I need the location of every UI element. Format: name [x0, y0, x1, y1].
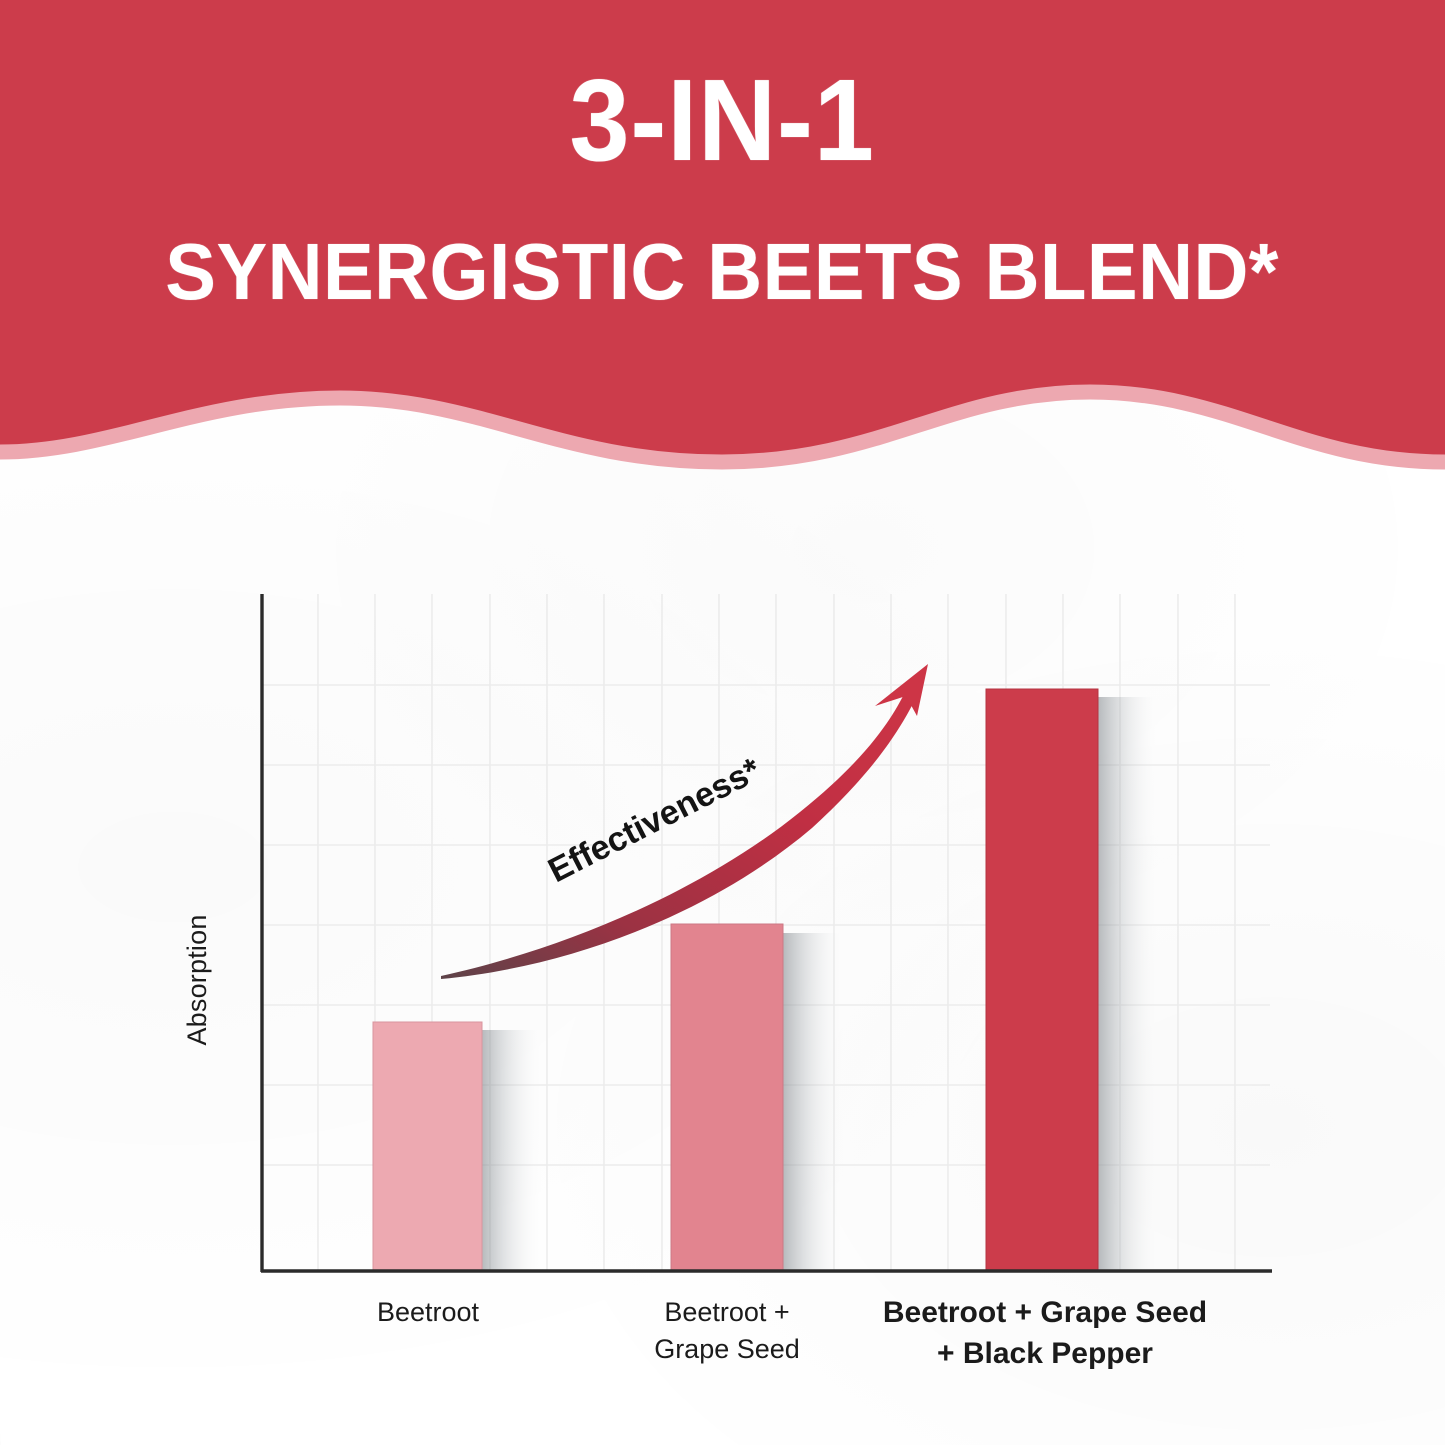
page-title: 3-IN-1 [570, 62, 875, 178]
bar-beetroot [373, 1022, 482, 1272]
category-label-line: Beetroot + [617, 1294, 837, 1331]
category-label-line: Grape Seed [617, 1331, 837, 1368]
bar-beetroot-grape-seed [671, 924, 783, 1272]
category-label-beetroot-grape-seed-black-pepper: Beetroot + Grape Seed + Black Pepper [880, 1292, 1210, 1375]
category-label-beetroot: Beetroot [318, 1294, 538, 1331]
category-label-line: Beetroot [318, 1294, 538, 1331]
bar-beetroot-grape-seed-black-pepper [986, 689, 1098, 1272]
banner-text-block: 3-IN-1 SYNERGISTIC BEETS BLEND* [0, 0, 1445, 420]
category-label-beetroot-grape-seed: Beetroot + Grape Seed [617, 1294, 837, 1369]
category-label-line: + Black Pepper [880, 1333, 1210, 1374]
x-axis-category-labels: Beetroot Beetroot + Grape Seed Beetroot … [0, 1290, 1445, 1410]
category-label-line: Beetroot + Grape Seed [880, 1292, 1210, 1333]
infographic-canvas: Absorption Effectiveness* Beetroot Beetr… [0, 0, 1445, 1445]
page-subtitle: SYNERGISTIC BEETS BLEND* [166, 232, 1280, 312]
y-axis-label: Absorption [182, 880, 213, 1080]
